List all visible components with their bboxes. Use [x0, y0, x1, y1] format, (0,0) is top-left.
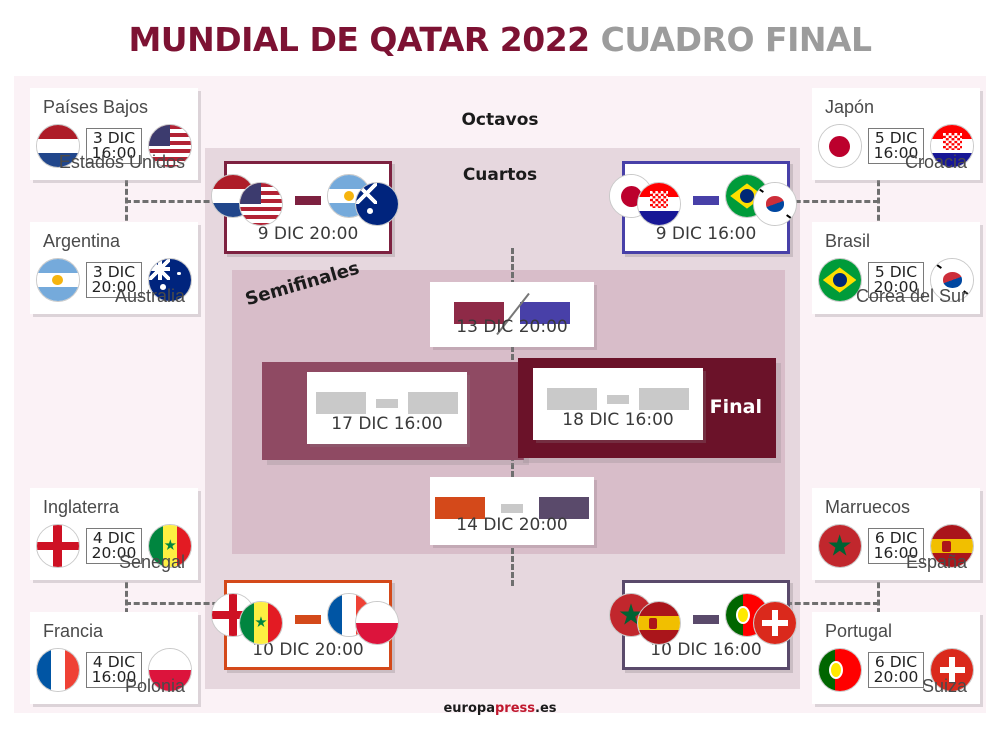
brand-part-3: .es — [535, 701, 557, 716]
versus-bar — [295, 615, 321, 624]
flag-switzerland — [753, 601, 797, 645]
versus-bar — [376, 399, 398, 408]
brand-part-1: europa — [443, 701, 495, 716]
flag-pair-right — [725, 593, 803, 645]
octavos-card-mar-esp[interactable]: Marruecos 6 DIC 16:00 España — [812, 488, 980, 580]
versus-bar — [607, 395, 629, 404]
octavos-card-por-sui[interactable]: Portugal 6 DIC 20:00 Suiza — [812, 612, 980, 704]
flag-pair-right — [327, 174, 405, 226]
final-datetime: 18 DIC 16:00 — [533, 410, 703, 430]
third-place-datetime: 17 DIC 16:00 — [307, 414, 467, 434]
team-name-bottom: Estados Unidos — [59, 153, 185, 171]
octavos-card-fra-pol[interactable]: Francia 4 DIC 16:00 Polonia — [30, 612, 198, 704]
semifinal-card-lower[interactable]: 14 DIC 20:00 — [430, 477, 594, 545]
semifinal-datetime: 14 DIC 20:00 — [430, 515, 594, 535]
cuartos-flags — [625, 591, 787, 647]
cuartos-datetime: 9 DIC 20:00 — [227, 224, 389, 244]
match-datetime: 6 DIC 20:00 — [868, 652, 925, 688]
flag-pair-left — [211, 174, 289, 226]
team-name-top: Portugal — [825, 622, 892, 640]
footer-brand: europapress.es — [0, 701, 1000, 716]
connector-qf-to-sf-bottom — [511, 548, 514, 586]
versus-bar — [693, 615, 719, 624]
cuartos-card-bottom-left[interactable]: 10 DIC 20:00 — [224, 580, 392, 670]
connector-qf-to-sf-top — [511, 248, 514, 286]
octavos-card-eng-sen[interactable]: Inglaterra 4 DIC 20:00 Senegal — [30, 488, 198, 580]
versus-bar — [501, 504, 523, 513]
octavos-card-arg-aus[interactable]: Argentina 3 DIC 20:00 Australia — [30, 222, 198, 314]
flag-portugal — [818, 648, 862, 692]
team-slot-left — [547, 388, 597, 410]
flag-pair-right — [327, 593, 405, 645]
team-slot-right — [408, 392, 458, 414]
flag-argentina — [36, 258, 80, 302]
final-label: Final — [710, 396, 762, 418]
team-name-bottom: Senegal — [119, 553, 185, 571]
flag-poland — [355, 601, 399, 645]
semifinal-datetime: 13 DIC 20:00 — [430, 317, 594, 337]
team-name-top: Marruecos — [825, 498, 910, 516]
flag-senegal — [239, 601, 283, 645]
flag-pair-left — [211, 593, 289, 645]
flag-south-korea — [753, 182, 797, 226]
team-name-bottom: Australia — [115, 287, 185, 305]
match-time: 20:00 — [874, 670, 919, 685]
team-name-bottom: Suiza — [922, 677, 967, 695]
cuartos-flags — [227, 591, 389, 647]
team-name-top: Inglaterra — [43, 498, 119, 516]
title-primary: MUNDIAL DE QATAR 2022 — [128, 20, 589, 59]
final-card[interactable]: 18 DIC 16:00 — [533, 368, 703, 440]
flag-france — [36, 648, 80, 692]
third-place-card[interactable]: 17 DIC 16:00 — [307, 372, 467, 444]
team-name-top: Países Bajos — [43, 98, 148, 116]
team-slot-right — [639, 388, 689, 410]
versus-bar — [295, 196, 321, 205]
flag-croatia — [637, 182, 681, 226]
team-name-top: Argentina — [43, 232, 120, 250]
page-title: MUNDIAL DE QATAR 2022 CUADRO FINAL — [0, 20, 1000, 59]
team-name-bottom: España — [906, 553, 967, 571]
flag-morocco — [818, 524, 862, 568]
team-name-bottom: Polonia — [125, 677, 185, 695]
octavos-card-jpn-cro[interactable]: Japón 5 DIC 16:00 Croacia — [812, 88, 980, 180]
team-name-bottom: Corea del Sur — [856, 287, 967, 305]
brand-part-2: press — [495, 701, 535, 716]
team-name-top: Francia — [43, 622, 103, 640]
cuartos-card-top-left[interactable]: 9 DIC 20:00 — [224, 161, 392, 254]
team-name-top: Japón — [825, 98, 874, 116]
team-slot-left — [316, 392, 366, 414]
cuartos-flags — [625, 172, 787, 228]
flag-australia — [355, 182, 399, 226]
team-name-bottom: Croacia — [905, 153, 967, 171]
cuartos-datetime: 9 DIC 16:00 — [625, 224, 787, 244]
octavos-card-bra-kor[interactable]: Brasil 5 DIC 20:00 Corea del Sur — [812, 222, 980, 314]
flag-united-states — [239, 182, 283, 226]
versus-bar — [693, 196, 719, 205]
flag-japan — [818, 124, 862, 168]
team-name-top: Brasil — [825, 232, 870, 250]
cuartos-card-bottom-right[interactable]: 10 DIC 16:00 — [622, 580, 790, 670]
flag-spain — [637, 601, 681, 645]
flag-pair-left — [609, 174, 687, 226]
cuartos-card-top-right[interactable]: 9 DIC 16:00 — [622, 161, 790, 254]
flag-england — [36, 524, 80, 568]
cuartos-flags — [227, 172, 389, 228]
semifinal-card-upper[interactable]: 13 DIC 20:00 — [430, 282, 594, 347]
flag-pair-right — [725, 174, 803, 226]
octavos-card-ned-usa[interactable]: Países Bajos 3 DIC 16:00 Estados Unidos — [30, 88, 198, 180]
title-secondary: CUADRO FINAL — [601, 20, 872, 59]
flag-pair-left — [609, 593, 687, 645]
infographic-root: MUNDIAL DE QATAR 2022 CUADRO FINAL Octav… — [0, 0, 1000, 741]
